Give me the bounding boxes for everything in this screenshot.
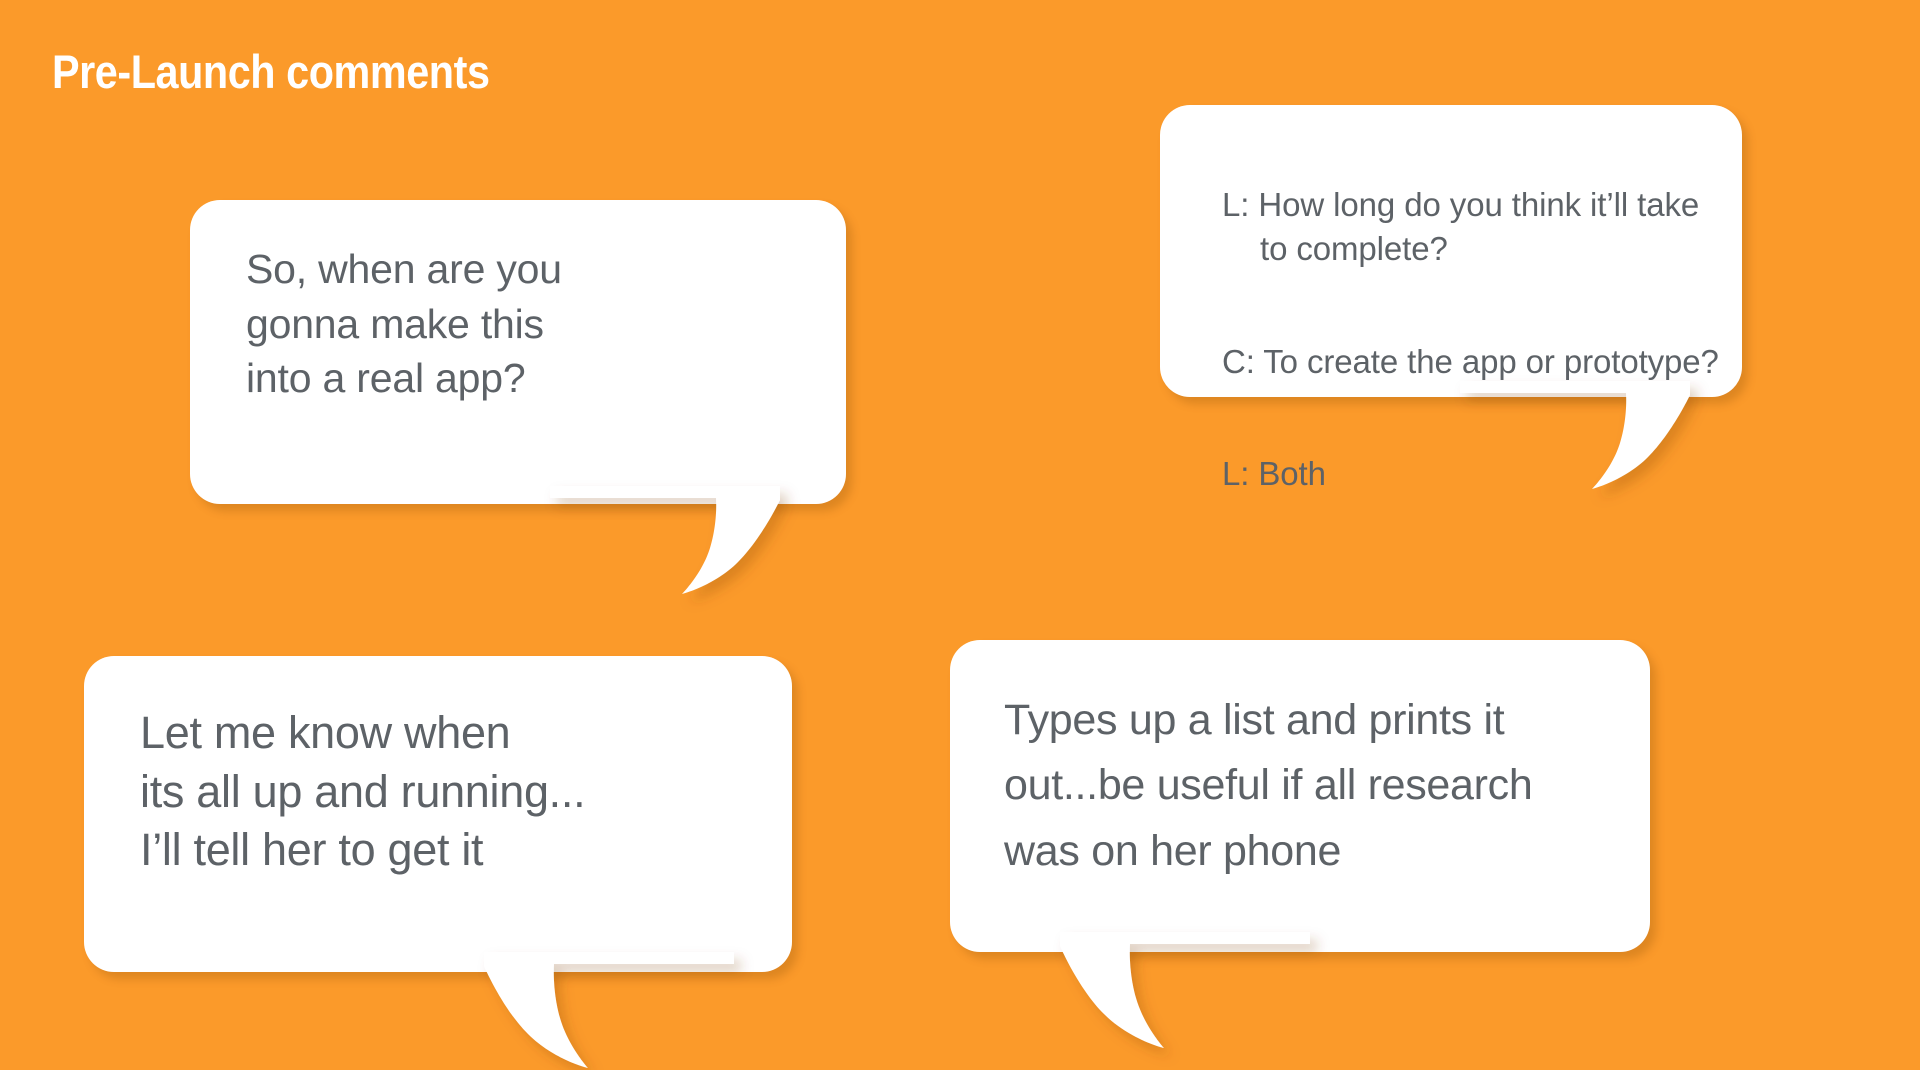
bubble-text: L: How long do you think it’ll take to c… [1222,139,1724,540]
slide-canvas: Pre-Launch comments So, when are you gon… [0,0,1920,1070]
comment-bubble-types-up-a-list: Types up a list and prints it out...be u… [950,640,1650,952]
dialogue-line-3: L: Both [1222,452,1724,496]
bubble-text: Let me know when its all up and running.… [140,704,774,880]
comment-bubble-let-me-know: Let me know when its all up and running.… [84,656,792,972]
bubble-text: So, when are you gonna make this into a … [246,242,826,406]
page-title: Pre-Launch comments [52,48,490,95]
comment-bubble-so-when-are-you: So, when are you gonna make this into a … [190,200,846,504]
comment-bubble-dialogue: L: How long do you think it’ll take to c… [1160,105,1742,397]
dialogue-line-1: L: How long do you think it’ll take to c… [1222,183,1724,271]
bubble-text: Types up a list and prints it out...be u… [1004,688,1634,884]
dialogue-line-2: C: To create the app or prototype? [1222,340,1724,384]
